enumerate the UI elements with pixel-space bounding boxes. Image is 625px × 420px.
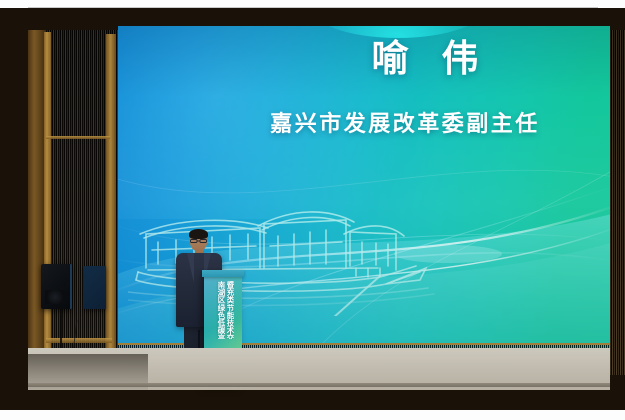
wall-rail-upper [46, 136, 110, 139]
stage-scene: 喻 伟 嘉兴市发展改革委副主任 [0, 8, 625, 410]
podium-top-cap [202, 270, 244, 277]
person-hair [189, 229, 208, 239]
gold-pillar-inner [44, 32, 51, 378]
stage-monitor-speaker-left [41, 264, 72, 309]
stage-monitor-speaker-right [84, 266, 106, 309]
wall-rail-lower [46, 338, 112, 343]
person-lapel-left [187, 253, 194, 283]
speaker-name-title: 喻 伟 [250, 40, 610, 79]
glasses-icon [190, 239, 207, 243]
photo-bottom-border [0, 410, 625, 420]
podium-text-line-1: 暨充类节能技术交流会 [225, 281, 234, 339]
speaker-title-subtitle: 嘉兴市发展改革委副主任 [200, 106, 610, 138]
photograph: 喻 伟 嘉兴市发展改革委副主任 [0, 0, 625, 420]
podium-text-line-2: 南湖区绿色低碳高质量发 [216, 281, 225, 339]
stage-front-panel [28, 386, 610, 410]
gold-pillar-right [106, 34, 116, 376]
